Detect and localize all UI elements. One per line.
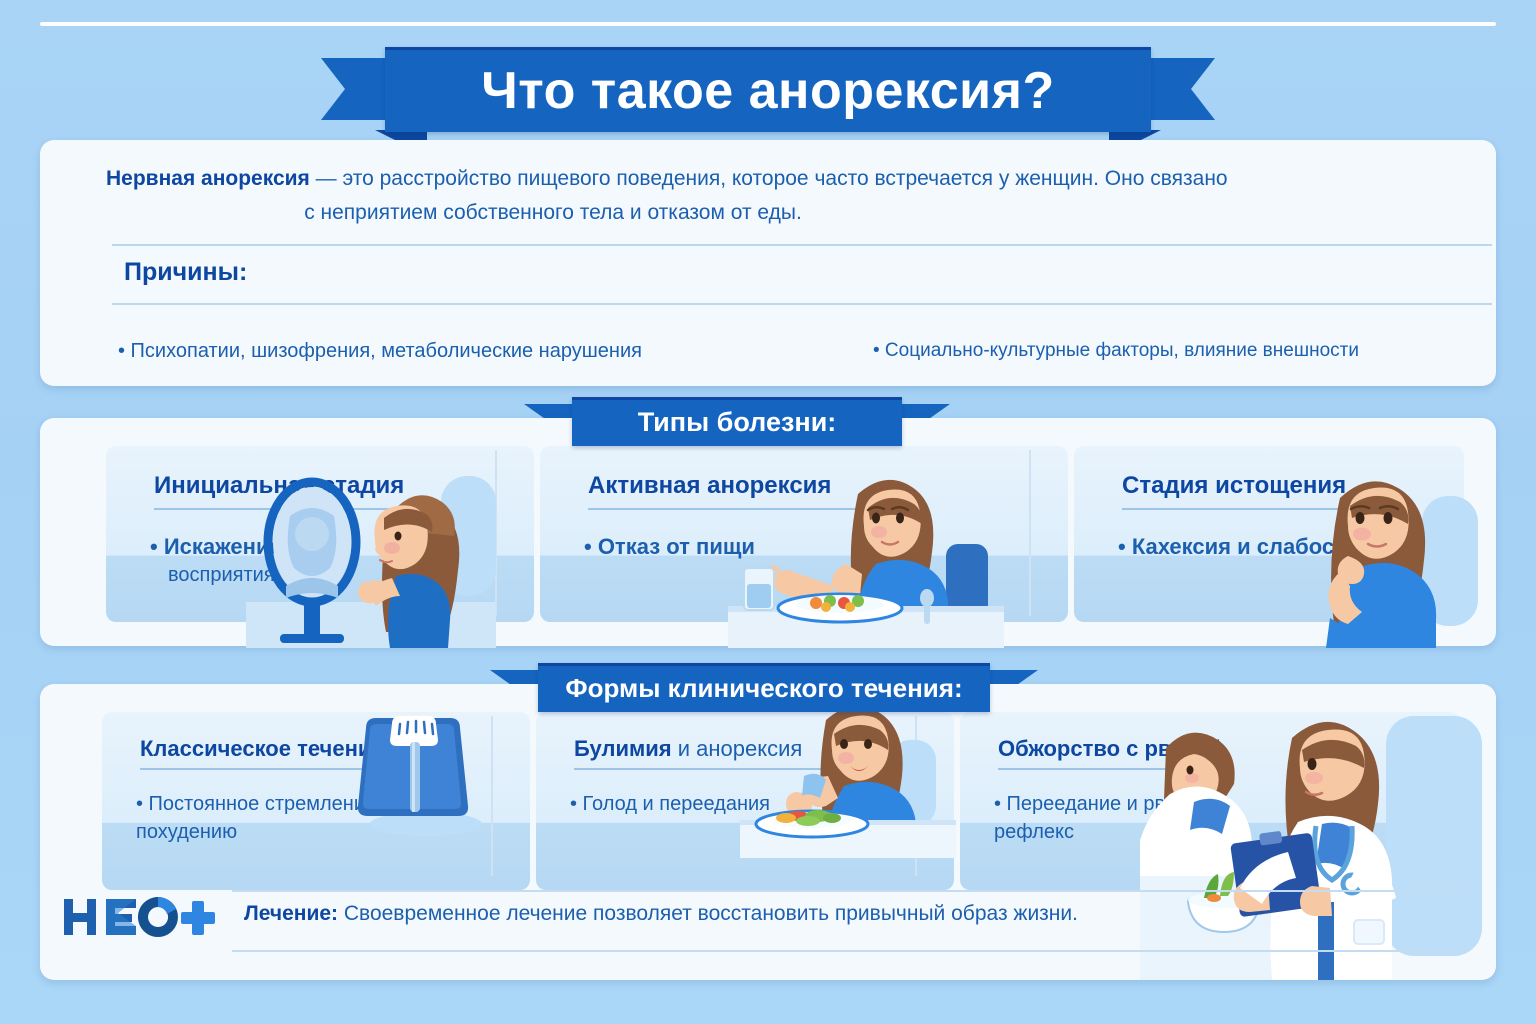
illustration-bathroom-scale [348,712,488,840]
intro-paragraph: Нервная анорексия — это расстройство пищ… [76,162,1460,230]
illustration-woman-looking-in-mirror [246,456,496,648]
types-banner-label: Типы болезни: [572,397,902,446]
treatment-label: Лечение: [244,902,338,925]
forms-banner: Формы клинического течения: [538,664,990,710]
treatment-body: Своевременное лечение позволяет восстано… [338,902,1078,925]
intro-line1: — это расстройство пищевого поведения, к… [310,167,1228,190]
page-title: Что такое анорексия? [385,47,1151,132]
brand-logo-neo-plus [62,893,222,941]
treatment-text: Лечение: Своевременное лечение позволяет… [244,902,1078,926]
treatment-divider-bottom [232,950,1462,952]
types-column-divider-1 [1029,450,1031,616]
types-banner: Типы болезни: [572,398,902,444]
intro-divider-bottom [112,303,1492,305]
top-divider-rule [40,22,1496,26]
treatment-divider-top [232,890,1462,892]
intro-card: Нервная анорексия — это расстройство пищ… [40,140,1496,386]
ribbon-tail-right [1145,58,1215,120]
forms-column-divider-0 [491,716,493,876]
forms-banner-label: Формы клинического течения: [538,663,990,712]
ribbon-tail-left [321,58,391,120]
illustration-woman-refusing-food-at-table [728,468,1004,648]
intro-lead: Нервная анорексия [106,167,310,190]
intro-line2: с неприятием собственного тела и отказом… [76,196,1460,230]
cause-item-0: • Психопатии, шизофрения, метаболические… [118,340,642,363]
causes-label: Причины: [124,258,247,287]
illustration-woman-overeating [740,706,956,858]
title-banner: Что такое анорексия? [385,48,1151,130]
illustration-exhausted-woman [1296,460,1486,648]
illustration-vomiting-woman-and-doctor [1140,706,1496,980]
intro-divider-top [112,244,1492,246]
cause-item-1: • Социально-культурные факторы, влияние … [873,340,1359,362]
